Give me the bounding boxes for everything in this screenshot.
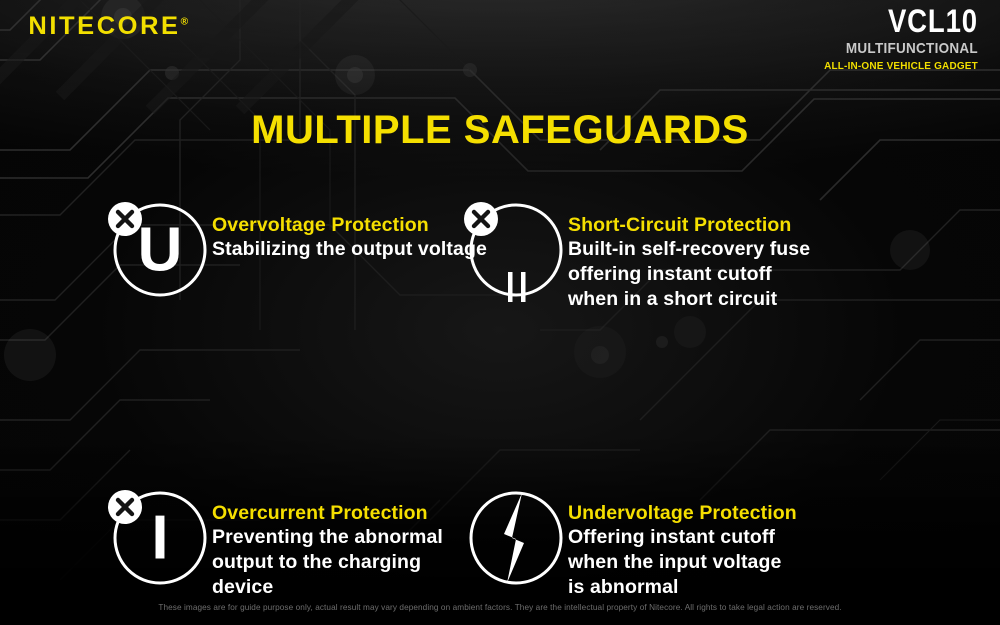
feature-description: Preventing the abnormal output to the ch… (212, 525, 443, 600)
model-subtitle: MULTIFUNCTIONAL (832, 40, 978, 59)
icon-letter: I (151, 503, 168, 572)
cross-badge-icon (108, 490, 142, 524)
feature-description-line: Offering instant cutoff (568, 525, 797, 550)
feature-text-undervoltage: Undervoltage Protection Offering instant… (568, 484, 797, 600)
circle-letter-i-icon: I (104, 486, 208, 590)
feature-description: Offering instant cutoff when the input v… (568, 525, 797, 600)
model-tagline: ALL-IN-ONE VEHICLE GADGET (824, 60, 978, 74)
circle-break-contacts-icon (460, 198, 564, 302)
feature-description-line: when the input voltage (568, 550, 797, 575)
icon-letter: U (138, 216, 183, 285)
feature-item-overvoltage: U Overvoltage Protection Stabilizing the… (0, 196, 440, 312)
cross-badge-icon (108, 202, 142, 236)
circle-letter-u-icon: U (104, 198, 208, 302)
logo-wordmark: NITECORE (28, 12, 180, 40)
footer-disclaimer: These images are for guide purpose only,… (0, 603, 1000, 612)
slide-canvas: NITECORE® VCL10 MULTIFUNCTIONAL ALL-IN-O… (0, 0, 1000, 625)
feature-description-line: offering instant cutoff (568, 262, 810, 287)
circle-lightning-bolt-icon (460, 486, 564, 590)
feature-description-line: is abnormal (568, 575, 797, 600)
feature-description-line: Built-in self-recovery fuse (568, 237, 810, 262)
feature-description-line: output to the charging (212, 550, 443, 575)
page-title: MULTIPLE SAFEGUARDS (0, 108, 1000, 153)
feature-item-undervoltage: Undervoltage Protection Offering instant… (440, 484, 910, 600)
lightning-bolt-glyph (504, 493, 524, 583)
feature-text-short-circuit: Short-Circuit Protection Built-in self-r… (568, 196, 810, 312)
model-name: VCL10 (839, 5, 978, 38)
feature-title: Short-Circuit Protection (568, 214, 810, 237)
feature-description-line: device (212, 575, 443, 600)
nitecore-logo: NITECORE® (28, 14, 188, 39)
feature-grid: U Overvoltage Protection Stabilizing the… (0, 196, 1000, 600)
feature-item-overcurrent: I Overcurrent Protection Preventing the … (0, 484, 440, 600)
feature-row-top: U Overvoltage Protection Stabilizing the… (0, 196, 1000, 312)
product-model-block: VCL10 MULTIFUNCTIONAL ALL-IN-ONE VEHICLE… (816, 5, 978, 74)
feature-title: Undervoltage Protection (568, 502, 797, 525)
feature-text-overcurrent: Overcurrent Protection Preventing the ab… (212, 484, 443, 600)
feature-description-line: when in a short circuit (568, 287, 810, 312)
feature-row-bottom: I Overcurrent Protection Preventing the … (0, 484, 1000, 600)
feature-item-short-circuit: Short-Circuit Protection Built-in self-r… (440, 196, 910, 312)
feature-description: Built-in self-recovery fuse offering ins… (568, 237, 810, 312)
feature-title: Overcurrent Protection (212, 502, 443, 525)
cross-badge-icon (464, 202, 498, 236)
registered-trademark-symbol: ® (181, 17, 189, 28)
feature-description-line: Preventing the abnormal (212, 525, 443, 550)
